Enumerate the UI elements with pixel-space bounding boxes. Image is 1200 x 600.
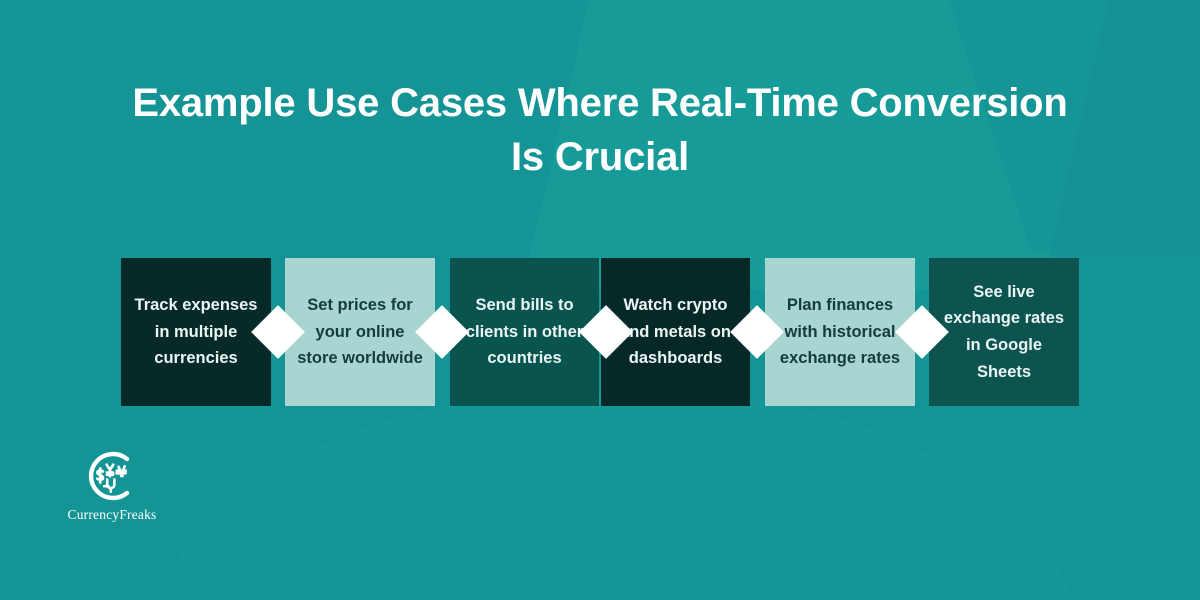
brand-logo: CurrencyFreaks [56, 448, 168, 523]
use-case-card-row: Track expenses in multiple currenciesSet… [121, 258, 1079, 406]
use-case-card-3[interactable]: Send bills to clients in other countries [450, 258, 599, 406]
currency-circle-icon [80, 448, 144, 504]
use-case-card-label: Plan finances with historical exchange r… [775, 292, 905, 372]
page-title: Example Use Cases Where Real-Time Conver… [100, 76, 1100, 185]
use-case-card-label: Set prices for your online store worldwi… [295, 292, 425, 372]
infographic-banner: Example Use Cases Where Real-Time Conver… [0, 0, 1200, 600]
use-case-card-5[interactable]: Plan finances with historical exchange r… [765, 258, 915, 406]
use-case-card-6[interactable]: See live exchange rates in Google Sheets [929, 258, 1079, 406]
background-diagonal-bottom [150, 390, 1080, 600]
page-title-line-2: Is Crucial [511, 135, 689, 179]
brand-name: CurrencyFreaks [56, 507, 168, 523]
use-case-card-label: Send bills to clients in other countries [460, 292, 589, 372]
page-title-line-1: Example Use Cases Where Real-Time Conver… [132, 81, 1067, 125]
use-case-card-2[interactable]: Set prices for your online store worldwi… [285, 258, 435, 406]
use-case-card-label: Track expenses in multiple currencies [131, 292, 261, 372]
use-case-card-1[interactable]: Track expenses in multiple currencies [121, 258, 271, 406]
use-case-card-label: See live exchange rates in Google Sheets [939, 279, 1069, 386]
